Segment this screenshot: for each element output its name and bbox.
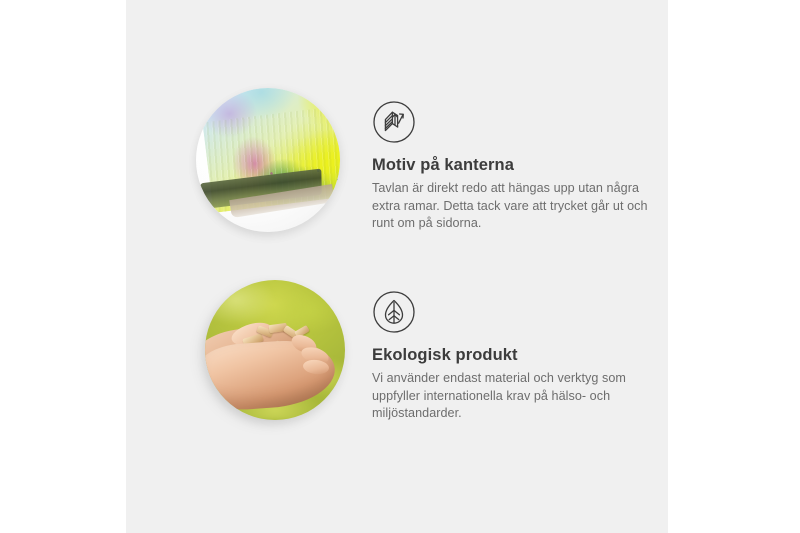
canvas-edge-print-icon	[372, 100, 416, 144]
hands-holding-wood-chips-photo	[186, 272, 352, 444]
wrapped-canvas-corner-photo	[186, 82, 352, 254]
canvas-image-clip	[196, 88, 340, 232]
content-panel	[126, 0, 668, 533]
feature-description: Vi använder endast material och verktyg …	[372, 370, 654, 423]
feature-text-eco-product: Ekologisk produkt Vi använder endast mat…	[352, 272, 654, 423]
feature-block-eco-product: Ekologisk produkt Vi använder endast mat…	[186, 272, 654, 444]
feature-text-canvas-edges: Motiv på kanterna Tavlan är direkt redo …	[352, 82, 654, 233]
feature-title: Motiv på kanterna	[372, 155, 654, 175]
leaf-icon	[372, 290, 416, 334]
feature-title: Ekologisk produkt	[372, 345, 654, 365]
feature-description: Tavlan är direkt redo att hängas upp uta…	[372, 180, 654, 233]
product-feature-infographic: Motiv på kanterna Tavlan är direkt redo …	[0, 0, 800, 533]
feature-block-canvas-edges: Motiv på kanterna Tavlan är direkt redo …	[186, 82, 654, 254]
eco-photo-circle	[205, 280, 345, 420]
